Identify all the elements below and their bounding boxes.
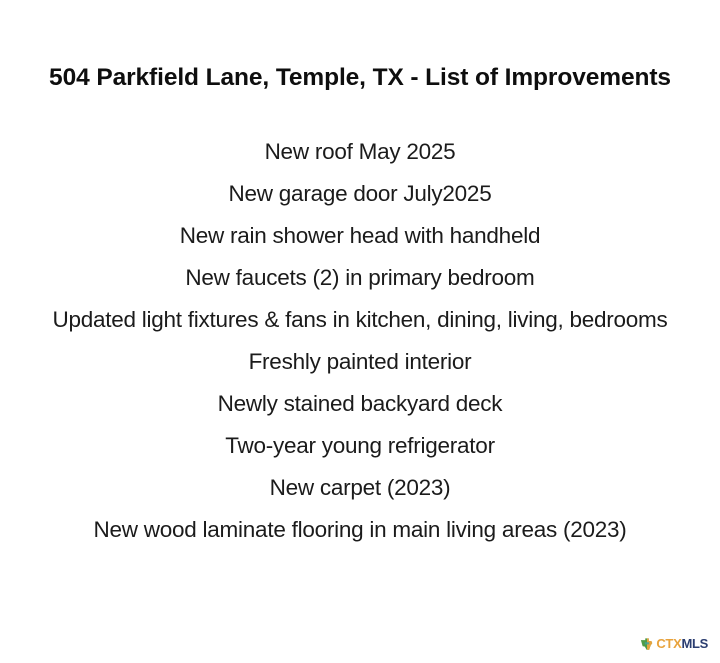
- page-title: 504 Parkfield Lane, Temple, TX - List of…: [0, 64, 720, 92]
- list-item: New faucets (2) in primary bedroom: [0, 257, 720, 299]
- list-item: New wood laminate flooring in main livin…: [0, 509, 720, 551]
- list-item: New garage door July2025: [0, 173, 720, 215]
- document-page: 504 Parkfield Lane, Temple, TX - List of…: [0, 0, 720, 663]
- ctxmls-logo: CTXMLS: [640, 635, 708, 652]
- list-item: Updated light fixtures & fans in kitchen…: [0, 299, 720, 341]
- logo-wordmark: CTXMLS: [656, 637, 708, 650]
- list-item: New rain shower head with handheld: [0, 215, 720, 257]
- list-item: Freshly painted interior: [0, 341, 720, 383]
- list-item: New carpet (2023): [0, 467, 720, 509]
- list-item: Newly stained backyard deck: [0, 383, 720, 425]
- texas-state-icon: [640, 637, 654, 651]
- list-item: New roof May 2025: [0, 131, 720, 173]
- logo-text-mls: MLS: [681, 636, 708, 651]
- improvements-list: New roof May 2025 New garage door July20…: [0, 131, 720, 551]
- logo-text-ctx: CTX: [656, 636, 681, 651]
- list-item: Two-year young refrigerator: [0, 425, 720, 467]
